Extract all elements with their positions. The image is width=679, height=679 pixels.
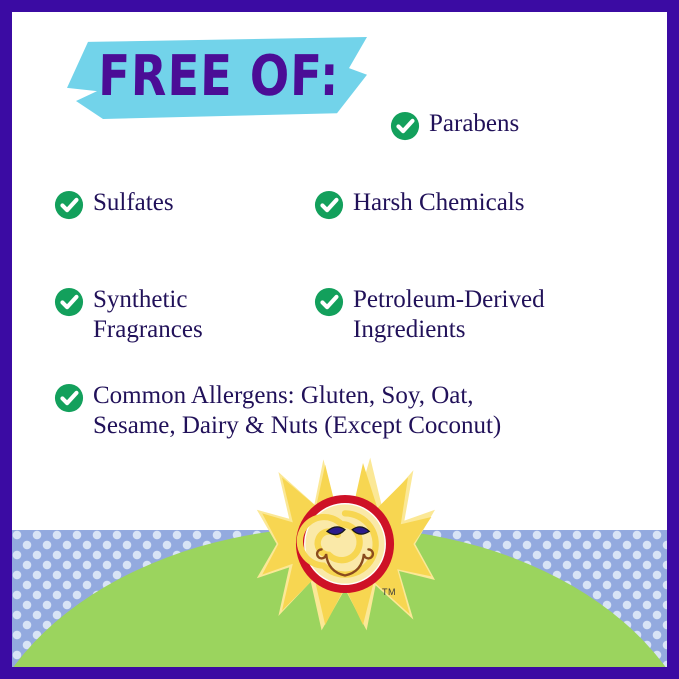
free-of-list: Parabens Sulfates Hars bbox=[12, 12, 667, 452]
check-circle-icon bbox=[54, 287, 84, 317]
list-item-harsh-chemicals: Harsh Chemicals bbox=[314, 188, 524, 220]
check-circle-icon bbox=[314, 190, 344, 220]
check-circle-icon bbox=[390, 111, 420, 141]
poster-card: FREE OF: Parabens bbox=[12, 12, 667, 667]
list-item-label: Common Allergens: Gluten, Soy, Oat, Sesa… bbox=[93, 381, 501, 440]
list-item-label: Sulfates bbox=[93, 188, 174, 218]
list-item-petroleum-derived-ingredients: Petroleum-Derived Ingredients bbox=[314, 285, 545, 344]
list-item-parabens: Parabens bbox=[390, 109, 519, 141]
check-circle-icon bbox=[54, 383, 84, 413]
list-item-label: Petroleum-Derived Ingredients bbox=[353, 285, 545, 344]
check-circle-icon bbox=[54, 190, 84, 220]
list-item-synthetic-fragrances: Synthetic Fragrances bbox=[54, 285, 203, 344]
trademark-mark: TM bbox=[382, 587, 396, 597]
check-circle-icon bbox=[314, 287, 344, 317]
list-item-label: Synthetic Fragrances bbox=[93, 285, 203, 344]
list-item-common-allergens: Common Allergens: Gluten, Soy, Oat, Sesa… bbox=[54, 381, 501, 440]
list-item-sulfates: Sulfates bbox=[54, 188, 174, 220]
list-item-label: Harsh Chemicals bbox=[353, 188, 524, 218]
scenery-illustration: TM bbox=[12, 447, 667, 667]
list-item-label: Parabens bbox=[429, 109, 519, 139]
sun-logo bbox=[255, 454, 435, 634]
product-callout-poster: FREE OF: Parabens bbox=[0, 0, 679, 679]
